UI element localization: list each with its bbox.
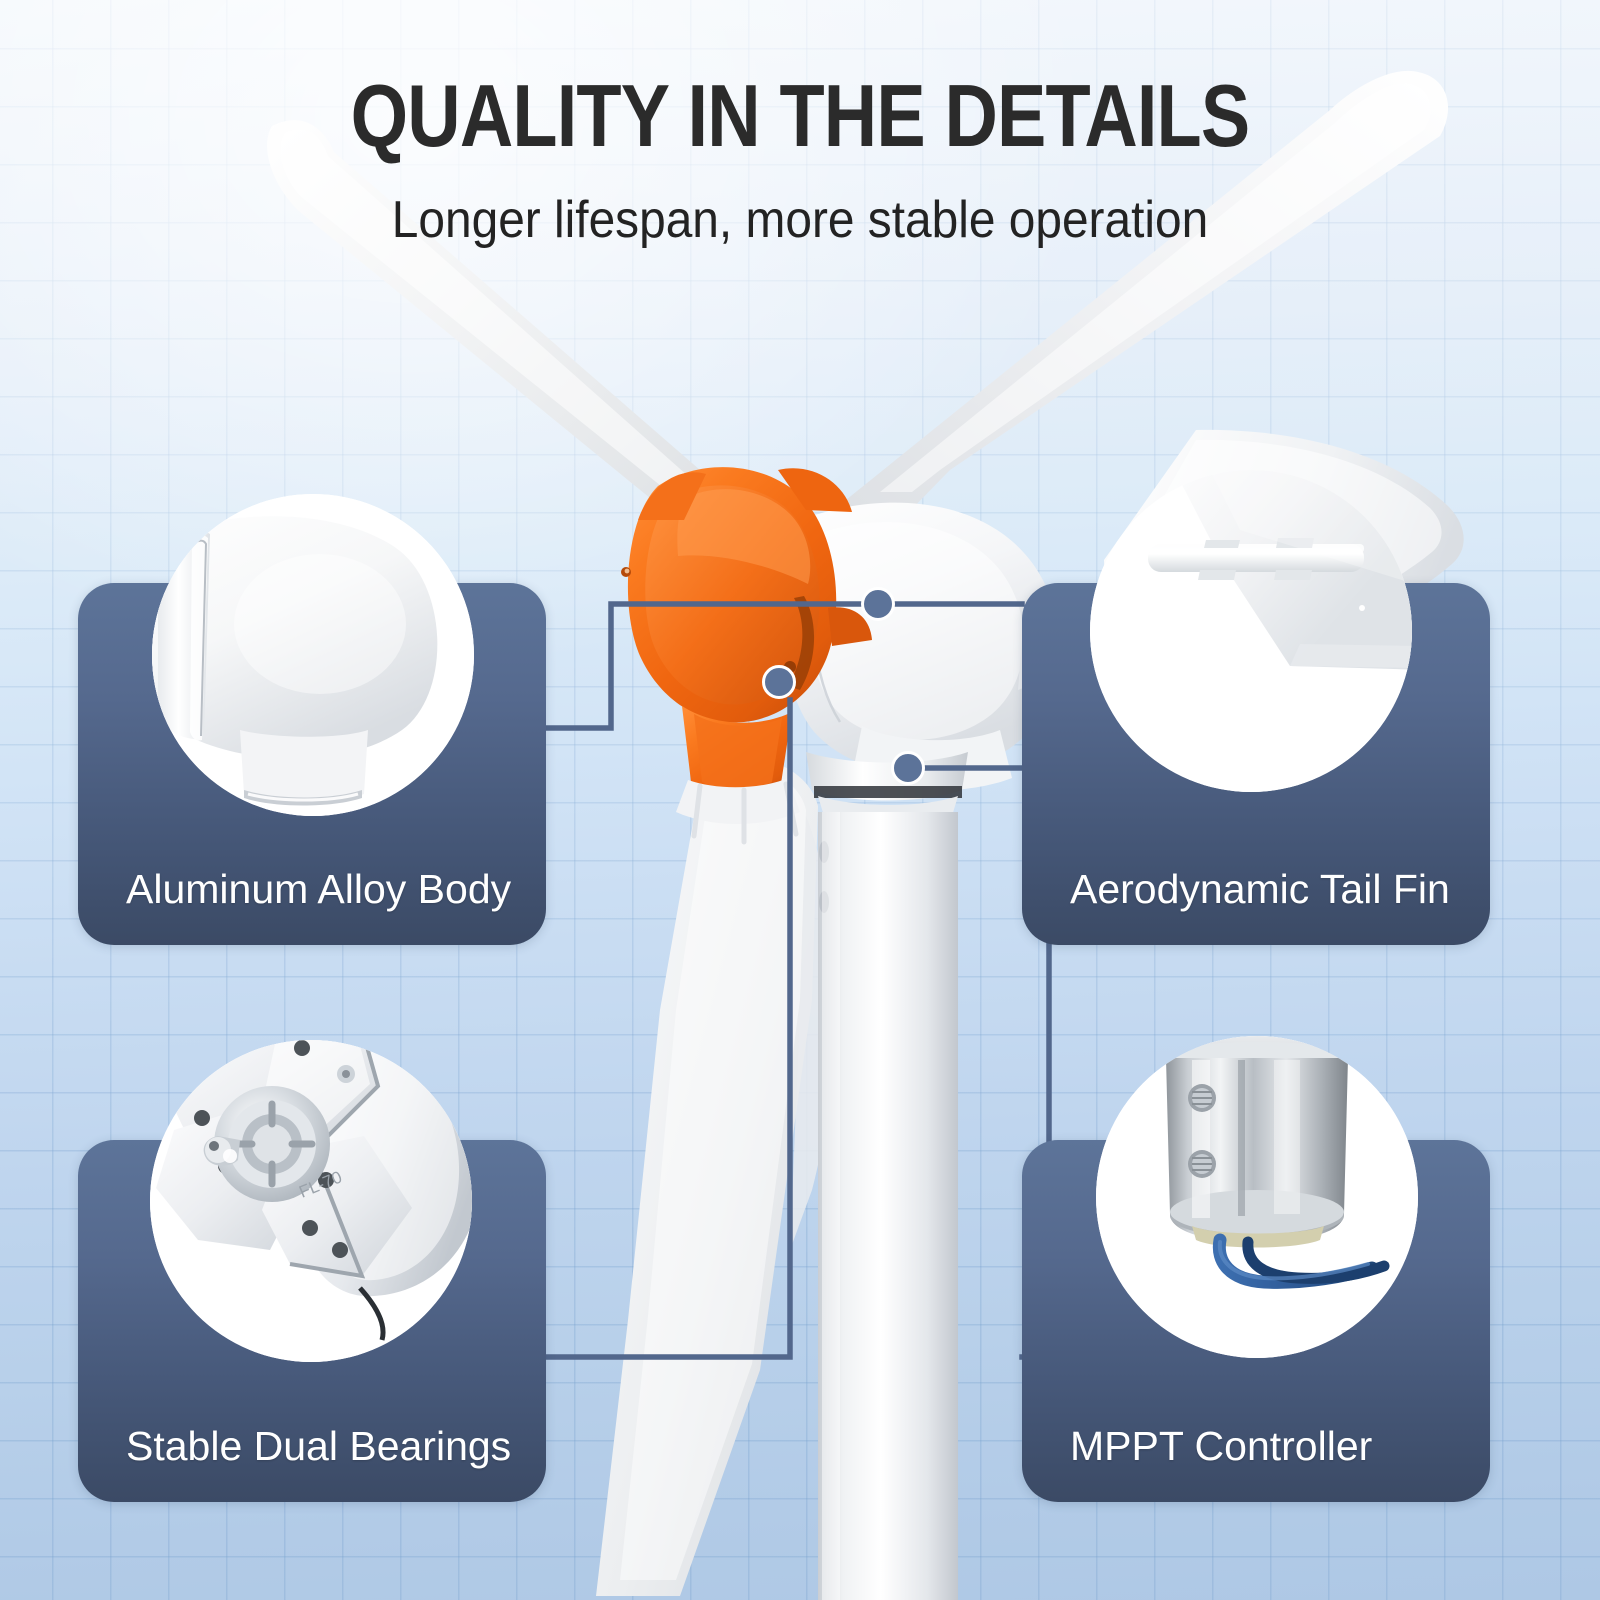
feature-card-label: MPPT Controller — [1070, 1425, 1462, 1468]
dot-hub-bearing-seam — [762, 665, 796, 699]
connector-aluminum-alloy-body — [545, 604, 862, 728]
page-title: QUALITY IN THE DETAILS — [128, 72, 1472, 160]
mppt-controller-closeup-photo — [1096, 1036, 1418, 1358]
infographic-canvas: Aluminum Alloy Body — [0, 0, 1600, 1600]
connector-stable-dual-bearings — [546, 700, 790, 1357]
page-subtitle: Longer lifespan, more stable operation — [64, 194, 1536, 246]
nacelle-closeup-photo — [152, 494, 474, 816]
feature-card-label: Aluminum Alloy Body — [126, 868, 518, 911]
feature-card-label: Aerodynamic Tail Fin — [1070, 868, 1462, 911]
tail-fin-closeup-photo — [1090, 470, 1412, 792]
dot-nacelle-shoulder — [861, 587, 895, 621]
feature-card-label: Stable Dual Bearings — [126, 1425, 518, 1468]
dot-mast-collar — [891, 751, 925, 785]
dual-bearing-closeup-photo: FL-70 — [150, 1040, 472, 1362]
